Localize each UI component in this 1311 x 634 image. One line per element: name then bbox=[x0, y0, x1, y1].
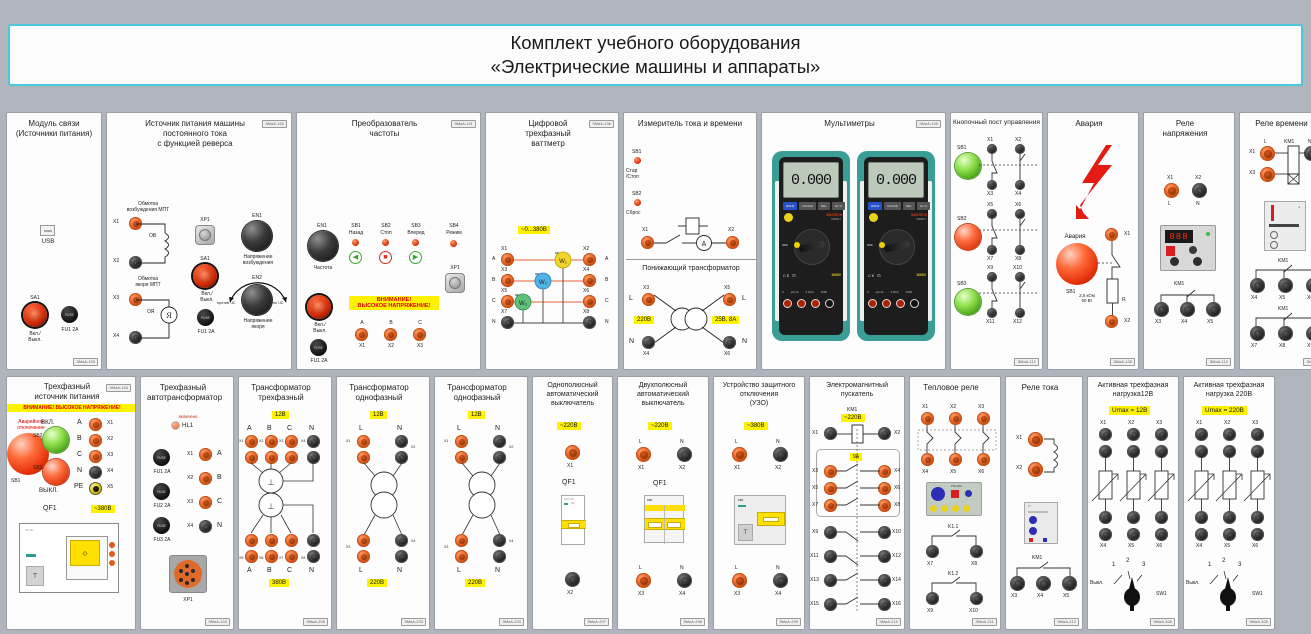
terminal-x4[interactable] bbox=[773, 573, 788, 588]
input-jack-v[interactable] bbox=[896, 299, 905, 308]
terminal-x6-b[interactable] bbox=[1251, 528, 1264, 541]
breaker-test-button[interactable]: T bbox=[26, 566, 44, 586]
relay-device[interactable]: 888 bbox=[1160, 225, 1216, 271]
terminal-x7[interactable] bbox=[501, 316, 514, 329]
terminal-x6-a[interactable] bbox=[265, 534, 278, 547]
fu1-label: FU1 2A bbox=[185, 329, 227, 335]
terminal-x6-b[interactable] bbox=[1155, 528, 1168, 541]
terminal-x10-label: X10 bbox=[1013, 265, 1022, 271]
terminal-x12[interactable] bbox=[1015, 308, 1025, 318]
terminal-x1[interactable] bbox=[199, 448, 212, 461]
terminal-x2[interactable] bbox=[1192, 183, 1207, 198]
terminal-x5-b[interactable] bbox=[1223, 528, 1236, 541]
terminal-x6[interactable] bbox=[977, 453, 990, 466]
panel-frequency-converter[interactable]: Преобразователь частоты ЭМиА-101 EN1 Час… bbox=[296, 112, 481, 370]
sb2-lamp-red[interactable] bbox=[955, 224, 981, 250]
terminal-x1-a[interactable] bbox=[245, 435, 258, 448]
sb3-glyph: ▶ bbox=[413, 254, 418, 261]
sb2-label: SB2 bbox=[33, 433, 42, 439]
terminal-x5[interactable] bbox=[89, 482, 102, 495]
sa1-power-button[interactable] bbox=[193, 264, 217, 288]
rotary-switch[interactable] bbox=[1106, 565, 1158, 613]
phase-a-label: A bbox=[217, 450, 222, 457]
terminal-x5[interactable] bbox=[723, 293, 736, 306]
terminal-x3-a[interactable] bbox=[1251, 428, 1264, 441]
terminal-x1-label: X1 bbox=[987, 137, 993, 143]
panel-row-bottom: Трехфазный источник питания ЭМиА-104 ВНИ… bbox=[6, 376, 1275, 630]
sb2-stop-button[interactable]: ■ bbox=[379, 251, 392, 264]
title-line-2: «Электрические машины и аппараты» bbox=[491, 55, 821, 79]
terminal-x8-label: X8 bbox=[1015, 256, 1021, 262]
primary-voltage-badge: 12В bbox=[370, 411, 387, 419]
fu1-fuse[interactable]: FUSE bbox=[153, 449, 170, 466]
input-jack-com[interactable] bbox=[910, 299, 919, 308]
panel-title-line: Устройство защитного bbox=[716, 382, 802, 391]
panel-voltage-relay[interactable]: Реле напряжения ЭМиА-113 X1 L X2 N 888 K… bbox=[1143, 112, 1235, 370]
sb1-lamp-green[interactable] bbox=[955, 153, 981, 179]
terminal-x8-a[interactable] bbox=[307, 534, 320, 547]
terminal-x6-label: X6 bbox=[724, 351, 730, 357]
btn-rel[interactable]: REL bbox=[818, 202, 830, 210]
thermal-relay-device[interactable]: РТИ-1301 bbox=[926, 482, 982, 516]
l-label-top: L bbox=[359, 425, 363, 432]
input-jack-com[interactable] bbox=[825, 299, 834, 308]
terminal-x1-a[interactable] bbox=[1099, 428, 1112, 441]
terminal-x1[interactable] bbox=[89, 418, 102, 431]
km1-label: KM1 bbox=[1174, 281, 1184, 287]
umax-badge: Umax = 220В bbox=[1202, 406, 1247, 415]
input-jack-ua[interactable] bbox=[797, 299, 806, 308]
power-button[interactable] bbox=[784, 213, 793, 222]
jack-label-a: A bbox=[867, 291, 869, 294]
terminal-x6-label: X6 bbox=[978, 469, 984, 475]
terminal-x7[interactable] bbox=[987, 245, 997, 255]
panel-code: ЭМиА-209 bbox=[776, 618, 801, 626]
terminal-x2[interactable] bbox=[384, 328, 397, 341]
n-label-right: N bbox=[742, 338, 747, 345]
terminal-x2[interactable] bbox=[565, 572, 580, 587]
panel-code: ЭМиА-208 bbox=[680, 618, 705, 626]
n-label-top: N bbox=[680, 439, 684, 445]
terminal-x3[interactable] bbox=[1154, 302, 1169, 317]
panel-current-relay[interactable]: Реле тока ЭМиА-212 X1 X2 РТ KM1 X3 X4 X bbox=[1005, 376, 1083, 630]
panel-time-relay[interactable]: Реле времени ЭМиА-114 L X1 KM1 N X2 X3 s… bbox=[1239, 112, 1311, 370]
terminal-x2[interactable] bbox=[1105, 315, 1118, 328]
terminal-x1[interactable] bbox=[501, 253, 514, 266]
title-line-1: Комплект учебного оборудования bbox=[491, 31, 821, 55]
terminal-x4-a[interactable] bbox=[1099, 511, 1112, 524]
terminal-x4-a[interactable] bbox=[307, 435, 320, 448]
fu1-fuse[interactable]: FUSE bbox=[61, 306, 78, 323]
terminal-x9[interactable] bbox=[987, 272, 997, 282]
jack-label-v: V Ω Hz bbox=[890, 291, 898, 294]
sb2-led[interactable] bbox=[634, 199, 641, 206]
terminal-x6-label: X6 bbox=[1307, 295, 1311, 301]
sb3-led bbox=[412, 239, 419, 246]
terminal-x4[interactable] bbox=[642, 336, 655, 349]
terminal-x5-label: X5 bbox=[1279, 295, 1285, 301]
terminal-x7[interactable] bbox=[926, 545, 939, 558]
terminal-x4[interactable] bbox=[1180, 302, 1195, 317]
terminal-x4-a[interactable] bbox=[493, 534, 506, 547]
terminal-x4[interactable] bbox=[677, 573, 692, 588]
terminal-x9[interactable] bbox=[926, 592, 939, 605]
fu1-fuse[interactable]: FUSE bbox=[197, 309, 214, 326]
current-relay-device[interactable]: РТ bbox=[1024, 502, 1058, 544]
panel-push-button-station[interactable]: Кнопочный пост управления ЭМиА-112 SB1 X… bbox=[950, 112, 1043, 370]
terminal-x12-label: X12 bbox=[1013, 319, 1022, 325]
terminal-x3-a[interactable] bbox=[357, 534, 370, 547]
terminal-x3-b[interactable] bbox=[357, 550, 370, 563]
terminal-x2[interactable] bbox=[878, 427, 891, 440]
terminal-x3[interactable] bbox=[636, 573, 651, 588]
panel-title-line: Трансформатор bbox=[245, 383, 317, 393]
terminal-x4-b[interactable] bbox=[1099, 528, 1112, 541]
btn-rel[interactable]: REL bbox=[903, 202, 915, 210]
terminal-x3-a[interactable] bbox=[285, 435, 298, 448]
terminal-x6-label: X6 bbox=[1015, 202, 1021, 208]
terminal-x5-label: X5 bbox=[1063, 593, 1069, 599]
terminal-x9[interactable] bbox=[1306, 326, 1311, 341]
terminal-x1-a[interactable] bbox=[357, 435, 370, 448]
terminal-x1[interactable] bbox=[987, 144, 997, 154]
k11-label: K1.1 bbox=[948, 524, 958, 530]
terminal-x1[interactable] bbox=[732, 447, 747, 462]
terminal-x4-a[interactable] bbox=[395, 534, 408, 547]
terminal-x7-label: X7 bbox=[927, 561, 933, 567]
sa1-power-button[interactable] bbox=[307, 295, 331, 319]
input-jack-v[interactable] bbox=[811, 299, 820, 308]
terminal-x4-a[interactable] bbox=[1195, 511, 1208, 524]
l-label-right: L bbox=[742, 295, 746, 302]
terminal-x1[interactable] bbox=[1105, 228, 1118, 241]
panel-single-phase-transformer-1[interactable]: Трансформатор однофазный ЭМиА-203 12В L … bbox=[336, 376, 430, 630]
panel-two-pole-breaker[interactable]: Двухполюсный автоматический выключатель … bbox=[617, 376, 709, 630]
terminal-x2[interactable] bbox=[726, 236, 739, 249]
panel-title-line: Модуль связи bbox=[13, 119, 95, 129]
terminal-x2[interactable] bbox=[677, 447, 692, 462]
terminal-x8-b[interactable] bbox=[307, 550, 320, 563]
title-banner: Комплект учебного оборудования «Электрич… bbox=[8, 24, 1303, 86]
terminal-x1[interactable] bbox=[641, 236, 654, 249]
ccw-label: против ЧС bbox=[217, 301, 235, 305]
fuse-text: FUSE bbox=[157, 524, 166, 528]
terminal-x4-b[interactable] bbox=[493, 550, 506, 563]
terminal-x4[interactable] bbox=[1250, 278, 1265, 293]
terminal-x2[interactable] bbox=[583, 253, 596, 266]
phase-c-label-bottom: C bbox=[287, 567, 292, 574]
terminal-x1-a[interactable] bbox=[1195, 428, 1208, 441]
panel-rcd-device[interactable]: Устройство защитного отключения (УЗО) ЭМ… bbox=[713, 376, 805, 630]
terminal-x3[interactable] bbox=[501, 274, 514, 287]
en1-frequency-knob[interactable] bbox=[308, 231, 338, 261]
terminal-x1[interactable] bbox=[565, 445, 580, 460]
btn-range[interactable]: RANGE bbox=[799, 202, 816, 210]
terminal-x6[interactable] bbox=[1306, 278, 1311, 293]
terminal-x4[interactable] bbox=[583, 274, 596, 287]
panel-three-phase-source[interactable]: Трехфазный источник питания ЭМиА-104 ВНИ… bbox=[6, 376, 136, 630]
panel-active-load-12v[interactable]: Активная трехфазная нагрузка12В ЭМиА-306… bbox=[1087, 376, 1179, 630]
phase-c-label: C bbox=[77, 451, 82, 458]
panel-three-phase-transformer[interactable]: Трансформатор трехфазный ЭМиА-205 12В A … bbox=[238, 376, 332, 630]
terminal-x3[interactable] bbox=[89, 450, 102, 463]
sb2-on-button[interactable] bbox=[43, 427, 69, 453]
qf1-breaker-device[interactable]: SA1T-29 C6 bbox=[561, 495, 585, 545]
sb1-glyph: ◀ bbox=[353, 254, 358, 261]
fu3-fuse[interactable]: FUSE bbox=[153, 517, 170, 534]
qf1-breaker-device[interactable]: NO-91 T ◇ bbox=[19, 523, 119, 593]
en1-caption: Напряжениевозбуждения bbox=[227, 254, 289, 266]
terminal-x10[interactable] bbox=[970, 592, 983, 605]
terminal-x4-label: X4 bbox=[107, 468, 113, 474]
terminal-x5[interactable] bbox=[1206, 302, 1221, 317]
btn-range[interactable]: RANGE bbox=[884, 202, 901, 210]
terminal-x2-label: X2 bbox=[894, 430, 900, 436]
terminal-x1-label: X1 bbox=[922, 404, 928, 410]
km1-label: KM1 bbox=[1032, 555, 1042, 561]
panel-title-line: Активная трехфазная bbox=[1090, 382, 1176, 391]
terminal-x3-a[interactable] bbox=[455, 534, 468, 547]
panel-title-line: ваттметр bbox=[492, 139, 604, 149]
terminal-x5-label: X5 bbox=[107, 484, 113, 490]
terminal-x2[interactable] bbox=[1028, 462, 1043, 477]
terminal-x2-a[interactable] bbox=[493, 435, 506, 448]
terminal-x6[interactable] bbox=[723, 336, 736, 349]
terminal-x4[interactable] bbox=[89, 466, 102, 479]
sb3-off-button[interactable] bbox=[43, 459, 69, 485]
terminal-x8[interactable] bbox=[970, 545, 983, 558]
terminal-x8[interactable] bbox=[583, 316, 596, 329]
en1-knob[interactable] bbox=[242, 221, 272, 251]
terminal-x7-a[interactable] bbox=[285, 534, 298, 547]
fuse-text: FUSE bbox=[201, 316, 210, 320]
usb-port[interactable] bbox=[40, 225, 55, 236]
fu1-fuse[interactable]: FUSE bbox=[310, 339, 327, 356]
terminal-x9-label: X9 bbox=[812, 529, 818, 535]
terminal-x2-a[interactable] bbox=[395, 435, 408, 448]
panel-digital-wattmeter[interactable]: Цифровой трехфазный ваттметр ЭМиА-106 ~0… bbox=[485, 112, 619, 370]
terminal-x2[interactable] bbox=[773, 447, 788, 462]
sa1-power-button[interactable] bbox=[23, 303, 47, 327]
multimeter-display-value: 0.000 bbox=[791, 172, 831, 189]
terminal-x5-a[interactable] bbox=[1223, 511, 1236, 524]
off-label: ВЫКЛ. bbox=[39, 487, 58, 494]
terminal-x3[interactable] bbox=[413, 328, 426, 341]
btn-hz[interactable]: Hz % bbox=[832, 202, 845, 210]
qf1-breaker-device[interactable]: 16K bbox=[644, 495, 684, 543]
rcd-breaker-device[interactable]: 16K T bbox=[734, 495, 786, 545]
terminal-x5[interactable] bbox=[501, 295, 514, 308]
terminal-x6-b[interactable] bbox=[265, 550, 278, 563]
terminal-x3-a[interactable] bbox=[1155, 428, 1168, 441]
n-label-bottom: N bbox=[397, 567, 402, 574]
terminal-x8-label: X8 bbox=[894, 502, 900, 508]
l-label: L bbox=[1264, 139, 1267, 145]
terminal-x3-label: X3 bbox=[444, 545, 448, 549]
xp1-connector[interactable] bbox=[445, 273, 465, 293]
fuse-text: FUSE bbox=[157, 456, 166, 460]
panel-title-line: Трансформатор bbox=[343, 383, 415, 393]
terminal-x5-b[interactable] bbox=[245, 550, 258, 563]
terminal-x3-label: X3 bbox=[638, 591, 644, 597]
xp1-socket[interactable] bbox=[169, 555, 207, 593]
sb4-led[interactable] bbox=[450, 240, 457, 247]
panel-three-phase-autotransformer[interactable]: Трехфазный автотрансформатор ЭМиА-103 вк… bbox=[140, 376, 234, 630]
terminal-x8[interactable] bbox=[1278, 326, 1293, 341]
panel-code: ЭМиА-106 bbox=[589, 120, 614, 128]
n-label: N bbox=[1196, 201, 1200, 207]
panel-thermal-relay[interactable]: Тепловое реле ЭМиА-211 X1 X2 X3 X4 X5 X6… bbox=[909, 376, 1001, 630]
terminal-x7[interactable] bbox=[1250, 326, 1265, 341]
terminal-x1[interactable] bbox=[355, 328, 368, 341]
terminal-x3-label: X3 bbox=[812, 468, 818, 474]
panel-code: ЭМиА-305 bbox=[1246, 618, 1271, 626]
input-jack-ua[interactable] bbox=[882, 299, 891, 308]
terminal-x1-a[interactable] bbox=[455, 435, 468, 448]
input-jack-a[interactable] bbox=[783, 299, 792, 308]
panel-dc-machine-supply[interactable]: Источник питания машины постоянного тока… bbox=[106, 112, 292, 370]
panel-module-communication[interactable]: Модуль связи (Источники питания) USB SA1… bbox=[6, 112, 102, 370]
panel-current-time-meter[interactable]: Измеритель тока и времени SB1 Стар/Стоп … bbox=[623, 112, 757, 370]
panel-code: ЭМиА-212 bbox=[1054, 618, 1079, 626]
qf1-label: QF1 bbox=[653, 480, 667, 487]
multimeter-1[interactable]: 0.000 HOLD RANGE REL Hz % MASTECH MS8217… bbox=[772, 151, 850, 341]
power-button[interactable] bbox=[869, 213, 878, 222]
terminal-x2-a[interactable] bbox=[1127, 428, 1140, 441]
btn-hz[interactable]: Hz % bbox=[917, 202, 930, 210]
xp1-connector[interactable] bbox=[195, 225, 215, 245]
sb3-lamp-green[interactable] bbox=[955, 289, 981, 315]
terminal-x1[interactable] bbox=[636, 447, 651, 462]
n-label-bottom: N bbox=[680, 565, 684, 571]
panel-electromagnetic-starter[interactable]: Электромагнитный пускатель ЭМиА-210 KM1 … bbox=[809, 376, 905, 630]
sb1-led[interactable] bbox=[634, 157, 641, 164]
sb3-forward-button[interactable]: ▶ bbox=[409, 251, 422, 264]
rotary-switch[interactable] bbox=[1202, 565, 1254, 613]
panel-title-line: (УЗО) bbox=[716, 400, 802, 409]
svg-text:Я: Я bbox=[166, 311, 172, 320]
terminal-x5[interactable] bbox=[1062, 576, 1077, 591]
terminal-x4-b[interactable] bbox=[1195, 528, 1208, 541]
qf1-label: QF1 bbox=[562, 479, 576, 486]
terminal-x5-b[interactable] bbox=[1127, 528, 1140, 541]
terminal-x4-label: X4 bbox=[643, 351, 649, 357]
terminal-x4[interactable] bbox=[1015, 180, 1025, 190]
field-winding-symbol bbox=[135, 217, 185, 277]
km1-label: KM1 bbox=[1284, 139, 1294, 145]
high-voltage-warning: ВНИМАНИЕ! ВЫСОКОЕ НАПРЯЖЕНИЕ! bbox=[349, 296, 439, 310]
terminal-x6-a[interactable] bbox=[1251, 511, 1264, 524]
l-label-bottom: L bbox=[457, 567, 461, 574]
panel-emergency[interactable]: Авария ЭМиА-108 Авария SB1 X1 2,5 кОм50 … bbox=[1047, 112, 1139, 370]
l-label: L bbox=[1168, 201, 1171, 207]
emergency-lamp[interactable] bbox=[1056, 243, 1098, 285]
sb2-label: SB2 bbox=[957, 216, 966, 222]
terminal-x5[interactable] bbox=[1278, 278, 1293, 293]
phase-n-label-right: N bbox=[605, 319, 609, 325]
terminal-x2[interactable] bbox=[1015, 144, 1025, 154]
en2-knob[interactable] bbox=[242, 285, 272, 315]
terminal-x2-label: X2 bbox=[384, 343, 398, 349]
terminal-x8[interactable] bbox=[1015, 245, 1025, 255]
terminal-x6[interactable] bbox=[1015, 209, 1025, 219]
panel-title: Кнопочный пост управления bbox=[953, 119, 1040, 127]
fuse-text: FUSE bbox=[157, 490, 166, 494]
sb1-back-button[interactable]: ◀ bbox=[349, 251, 362, 264]
terminal-x3[interactable] bbox=[199, 496, 212, 509]
terminal-x4[interactable] bbox=[921, 453, 934, 466]
terminal-x10[interactable] bbox=[1015, 272, 1025, 282]
input-jack-a[interactable] bbox=[868, 299, 877, 308]
terminal-x1-label: X1 bbox=[355, 343, 369, 349]
terminal-x3[interactable] bbox=[732, 573, 747, 588]
terminal-x6[interactable] bbox=[583, 295, 596, 308]
terminal-x1[interactable] bbox=[1164, 183, 1179, 198]
panel-code: ЭМиА-101 bbox=[451, 120, 476, 128]
lightning-bolt-icon bbox=[1072, 143, 1124, 223]
terminal-x4[interactable] bbox=[199, 520, 212, 533]
relay-display: 888 bbox=[1169, 232, 1188, 242]
panel-title: Реле тока bbox=[1012, 383, 1068, 393]
terminal-x5-label: X5 bbox=[1224, 543, 1230, 549]
multimeter-2[interactable]: 0.000 HOLD RANGE REL Hz % MASTECH MS8217… bbox=[857, 151, 935, 341]
terminal-x6-a[interactable] bbox=[1155, 511, 1168, 524]
panel-title: Измеритель тока и времени bbox=[628, 119, 752, 129]
panel-single-pole-breaker[interactable]: Однополюсный автоматический выключатель … bbox=[532, 376, 613, 630]
terminal-x5-a[interactable] bbox=[245, 534, 258, 547]
input-voltage-badge: 220В bbox=[634, 316, 654, 324]
panel-single-phase-transformer-2[interactable]: Трансформатор однофазный ЭМиА-203 12В L … bbox=[434, 376, 528, 630]
phase-b-label-right: B bbox=[605, 277, 608, 283]
terminal-x4-label: X4 bbox=[894, 468, 900, 474]
terminal-x3[interactable] bbox=[987, 180, 997, 190]
terminal-x1-label: X1 bbox=[1196, 420, 1202, 426]
l-label-bottom: L bbox=[639, 565, 642, 571]
terminal-x5-a[interactable] bbox=[1127, 511, 1140, 524]
sb1-led bbox=[352, 239, 359, 246]
fu2-fuse[interactable]: FUSE bbox=[153, 483, 170, 500]
rcd-test-button[interactable]: T bbox=[738, 524, 753, 541]
btn-hold[interactable]: HOLD bbox=[783, 202, 797, 210]
terminal-x1[interactable] bbox=[1028, 432, 1043, 447]
terminal-x2-a[interactable] bbox=[265, 435, 278, 448]
time-setting-device[interactable]: s bbox=[1264, 201, 1306, 251]
panel-code: ЭМиА-211 bbox=[972, 618, 997, 626]
terminal-x2-a[interactable] bbox=[1223, 428, 1236, 441]
btn-hold[interactable]: HOLD bbox=[868, 202, 882, 210]
panel-active-load-220v[interactable]: Активная трехфазная нагрузка 220В ЭМиА-3… bbox=[1183, 376, 1275, 630]
terminal-x3[interactable] bbox=[1010, 576, 1025, 591]
terminal-x7-b[interactable] bbox=[285, 550, 298, 563]
phase-c-label: C bbox=[413, 320, 427, 326]
terminal-x5[interactable] bbox=[987, 209, 997, 219]
n-label-bottom: N bbox=[776, 565, 780, 571]
terminal-x4[interactable] bbox=[1036, 576, 1051, 591]
terminal-x4-label: X4 bbox=[1196, 543, 1202, 549]
terminal-x11[interactable] bbox=[987, 308, 997, 318]
l-label-top: L bbox=[457, 425, 461, 432]
step-down-transformer-title: Понижающий трансформатор bbox=[624, 265, 757, 272]
terminal-x4-b[interactable] bbox=[395, 550, 408, 563]
panel-multimeters[interactable]: Мультиметры ЭМиА-105 0.000 HOLD RANGE RE… bbox=[761, 112, 946, 370]
terminal-x2[interactable] bbox=[89, 434, 102, 447]
terminal-x3[interactable] bbox=[642, 293, 655, 306]
sb2-label: SB2 bbox=[632, 191, 641, 197]
terminal-x2[interactable] bbox=[199, 472, 212, 485]
current-coil-symbol bbox=[1042, 432, 1072, 482]
terminal-x3-b[interactable] bbox=[455, 550, 468, 563]
terminal-x5[interactable] bbox=[949, 453, 962, 466]
